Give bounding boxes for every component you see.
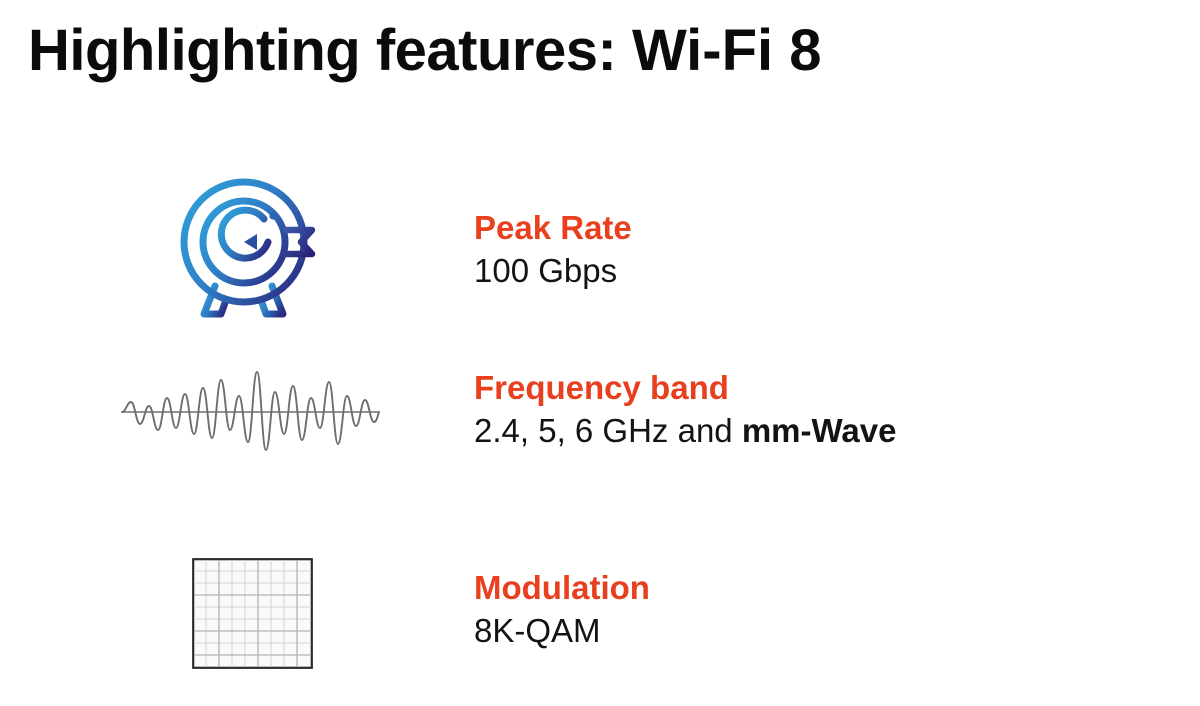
page-title-emphasis: Wi-Fi 8	[632, 18, 822, 83]
feature-value-bold: mm-Wave	[742, 412, 897, 449]
feature-text-cell-peak-rate: Peak Rate 100 Gbps	[474, 160, 1174, 330]
feature-icon-cell-frequency-band	[100, 340, 400, 510]
feature-value-text: 100 Gbps	[474, 252, 617, 289]
feature-text-cell-frequency-band: Frequency band 2.4, 5, 6 GHz and mm-Wave	[474, 340, 1174, 510]
feature-value-text: 2.4, 5, 6 GHz and	[474, 412, 742, 449]
constellation-grid-icon	[192, 558, 313, 669]
feature-row-modulation: Modulation 8K-QAM	[0, 530, 1200, 700]
feature-icon-cell-modulation	[100, 530, 400, 700]
page-title-separator: :	[598, 18, 632, 83]
feature-heading-modulation: Modulation	[474, 568, 650, 608]
feature-icon-cell-peak-rate	[100, 160, 400, 330]
feature-row-frequency-band: Frequency band 2.4, 5, 6 GHz and mm-Wave	[0, 340, 1200, 510]
feature-heading-frequency-band: Frequency band	[474, 368, 729, 408]
waveform-icon	[118, 358, 383, 458]
target-arrow-icon	[160, 174, 335, 329]
feature-text-cell-modulation: Modulation 8K-QAM	[474, 530, 1174, 700]
feature-value-peak-rate: 100 Gbps	[474, 250, 617, 292]
page-title: Highlighting features: Wi-Fi 8	[28, 16, 1168, 86]
feature-heading-peak-rate: Peak Rate	[474, 208, 632, 248]
feature-value-text: 8K-QAM	[474, 612, 601, 649]
feature-value-modulation: 8K-QAM	[474, 610, 601, 652]
page-title-main: Highlighting features	[28, 18, 598, 83]
feature-row-peak-rate: Peak Rate 100 Gbps	[0, 160, 1200, 330]
feature-value-frequency-band: 2.4, 5, 6 GHz and mm-Wave	[474, 410, 896, 452]
